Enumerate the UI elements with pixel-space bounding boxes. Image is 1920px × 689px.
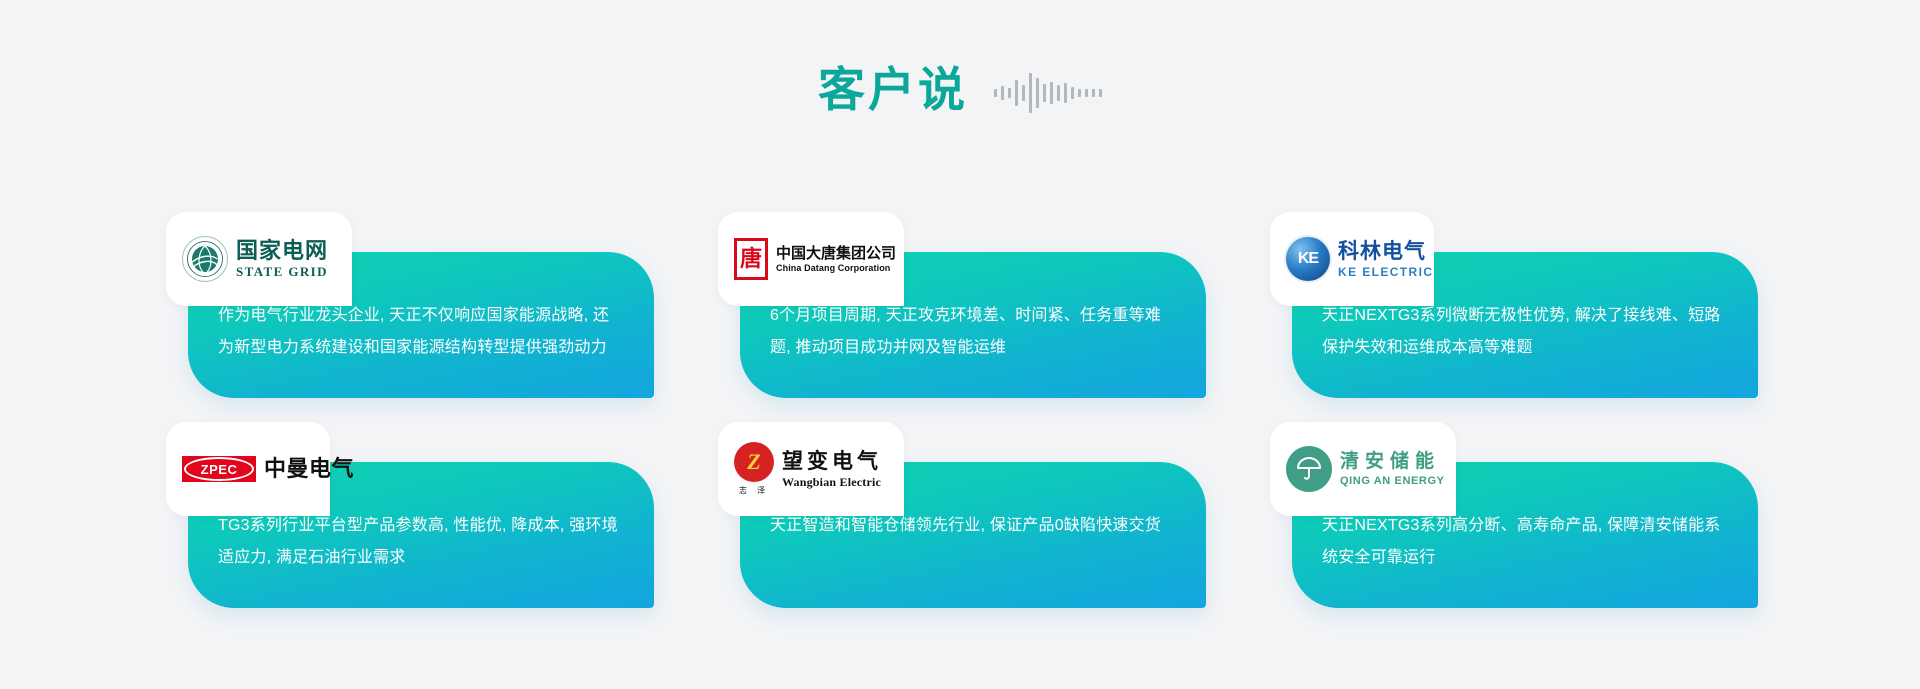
testimonial-quote: 6个月项目周期, 天正攻克环境差、时间紧、任务重等难题, 推动项目成功并网及智能…: [770, 300, 1174, 364]
testimonial-quote: 作为电气行业龙头企业, 天正不仅响应国家能源战略, 还为新型电力系统建设和国家能…: [218, 300, 622, 364]
logo-tab: KE 科林电气 KE ELECTRIC: [1270, 212, 1434, 306]
datang-seal-icon: 唐: [734, 238, 768, 280]
testimonial-quote: 天正NEXTG3系列微断无极性优势, 解决了接线难、短路保护失效和运维成本高等难…: [1322, 300, 1726, 364]
ke-electric-badge-icon: KE: [1286, 237, 1330, 281]
testimonial-card[interactable]: 6个月项目周期, 天正攻克环境差、时间紧、任务重等难题, 推动项目成功并网及智能…: [718, 212, 1206, 398]
zpec-plaque-text: ZPEC: [184, 457, 254, 481]
logo-name-cn: 国家电网: [236, 240, 328, 262]
testimonials-grid: 作为电气行业龙头企业, 天正不仅响应国家能源战略, 还为新型电力系统建设和国家能…: [166, 212, 1758, 608]
logo-tab: Z 志 泽 望变电气 Wangbian Electric: [718, 422, 904, 516]
testimonial-quote: 天正NEXTG3系列高分断、高寿命产品, 保障清安储能系统安全可靠运行: [1322, 510, 1726, 574]
testimonial-card[interactable]: 天正NEXTG3系列微断无极性优势, 解决了接线难、短路保护失效和运维成本高等难…: [1270, 212, 1758, 398]
audio-waveform-icon: [994, 70, 1102, 116]
testimonial-card[interactable]: TG3系列行业平台型产品参数高, 性能优, 降成本, 强环境适应力, 满足石油行…: [166, 422, 654, 608]
logo-tab: ZPEC 中曼电气: [166, 422, 330, 516]
testimonial-card[interactable]: 天正智造和智能仓储领先行业, 保证产品0缺陷快速交货 Z 志 泽 望变电气 Wa…: [718, 422, 1206, 608]
testimonial-quote: TG3系列行业平台型产品参数高, 性能优, 降成本, 强环境适应力, 满足石油行…: [218, 510, 622, 574]
page-title: 客户说: [818, 66, 968, 113]
logo-name-cn: 望变电气: [782, 451, 882, 472]
zpec-plaque-icon: ZPEC: [182, 456, 256, 482]
datang-seal-char: 唐: [734, 238, 768, 280]
logo-name-en: QING AN ENERGY: [1340, 476, 1445, 487]
section-header: 客户说: [0, 62, 1920, 116]
logo-name-en: KE ELECTRIC: [1338, 266, 1433, 278]
state-grid-globe-icon: [182, 236, 228, 282]
logo-name-en: Wangbian Electric: [782, 476, 882, 488]
ke-badge-text: KE: [1298, 250, 1318, 268]
logo-name-en: STATE GRID: [236, 265, 328, 278]
logo-name-cn: 清安储能: [1340, 452, 1445, 471]
testimonial-card[interactable]: 天正NEXTG3系列高分断、高寿命产品, 保障清安储能系统安全可靠运行 清安储能…: [1270, 422, 1758, 608]
wangbian-sub-text: 志 泽: [739, 485, 769, 496]
logo-tab: 清安储能 QING AN ENERGY: [1270, 422, 1456, 516]
qingan-umbrella-icon: [1286, 446, 1332, 492]
logo-tab: 唐 中国大唐集团公司 China Datang Corporation: [718, 212, 904, 306]
logo-name-cn: 科林电气: [1338, 241, 1433, 262]
logo-name-cn: 中曼电气: [264, 458, 354, 480]
logo-name-en: China Datang Corporation: [776, 264, 896, 273]
logo-name-cn: 中国大唐集团公司: [776, 246, 896, 261]
wangbian-circle-icon: Z 志 泽: [734, 442, 774, 496]
testimonial-card[interactable]: 作为电气行业龙头企业, 天正不仅响应国家能源战略, 还为新型电力系统建设和国家能…: [166, 212, 654, 398]
logo-tab: 国家电网 STATE GRID: [166, 212, 352, 306]
